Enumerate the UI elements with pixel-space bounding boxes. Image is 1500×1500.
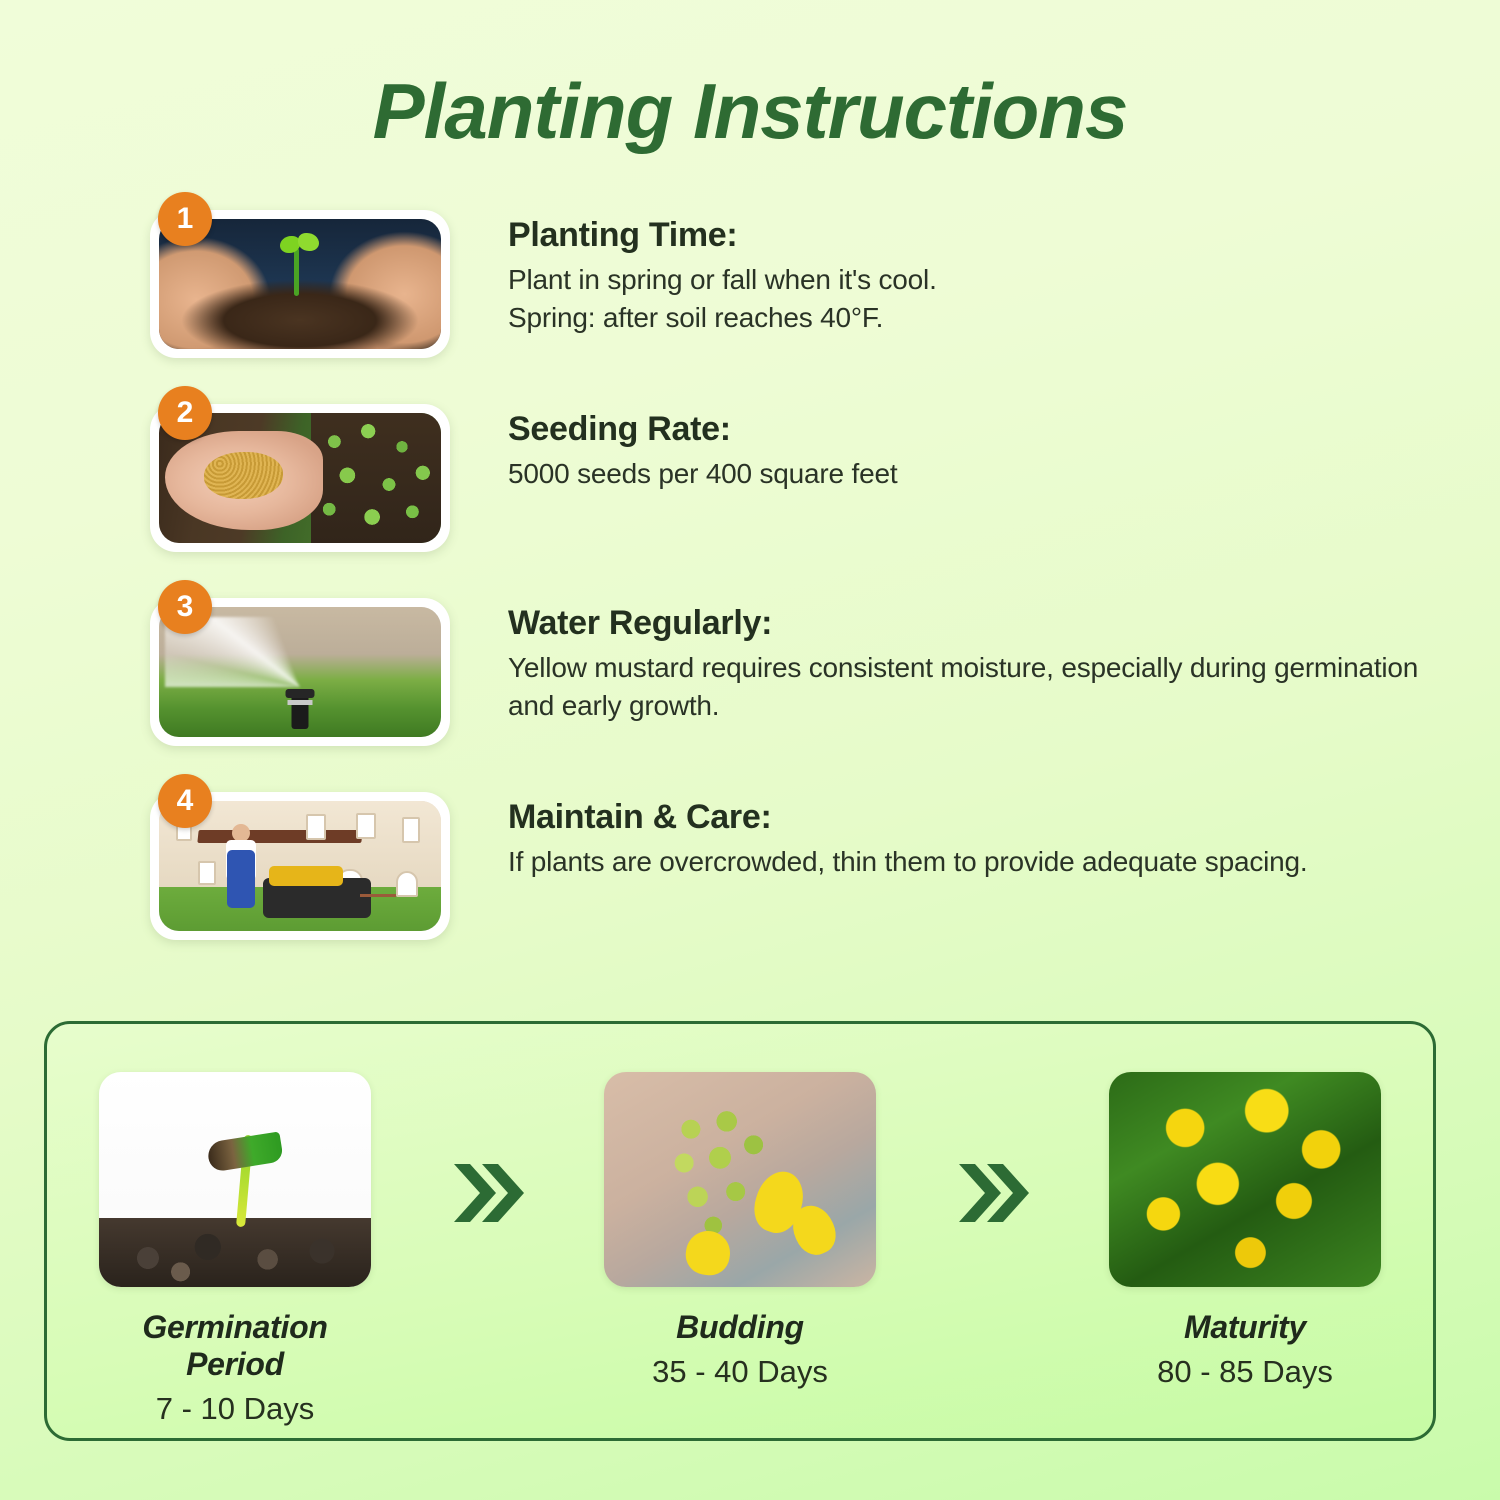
instruction-step: 2 Seeding Rate: 5000 seeds per 400 squar…: [150, 386, 1440, 552]
step-media: 4: [150, 774, 460, 940]
step-heading: Water Regularly:: [508, 604, 1440, 643]
instruction-step: 3 Water Regularly: Yellow mustard requir…: [150, 580, 1440, 746]
step-heading: Planting Time:: [508, 216, 1440, 255]
page-title: Planting Instructions: [0, 72, 1500, 150]
step-number-badge: 3: [158, 580, 212, 634]
stage-name: Budding: [604, 1309, 876, 1346]
stage-duration: 80 - 85 Days: [1109, 1354, 1381, 1390]
instruction-step: 1 Planting Time: Plant in spring or fall…: [150, 192, 1440, 358]
instruction-steps-list: 1 Planting Time: Plant in spring or fall…: [0, 192, 1500, 940]
growth-timeline-panel: Germination Period 7 - 10 Days Budding 3…: [44, 1021, 1436, 1441]
step-text: Seeding Rate: 5000 seeds per 400 square …: [460, 386, 1440, 493]
step-body: Yellow mustard requires consistent moist…: [508, 649, 1428, 724]
step-text: Planting Time: Plant in spring or fall w…: [460, 192, 1440, 336]
growth-stage: Budding 35 - 40 Days: [604, 1072, 876, 1390]
step-heading: Maintain & Care:: [508, 798, 1440, 837]
growth-stage: Maturity 80 - 85 Days: [1109, 1072, 1381, 1390]
step-media: 1: [150, 192, 460, 358]
growth-stage: Germination Period 7 - 10 Days: [99, 1072, 371, 1427]
stage-name: Maturity: [1109, 1309, 1381, 1346]
double-chevron-right-icon: [446, 1072, 530, 1226]
step-heading: Seeding Rate:: [508, 410, 1440, 449]
germination-image: [99, 1072, 371, 1287]
step-text: Maintain & Care: If plants are overcrowd…: [460, 774, 1440, 881]
stage-duration: 35 - 40 Days: [604, 1354, 876, 1390]
step-number-badge: 4: [158, 774, 212, 828]
stage-name: Germination Period: [99, 1309, 371, 1383]
step-body: 5000 seeds per 400 square feet: [508, 455, 1428, 493]
maturity-image: [1109, 1072, 1381, 1287]
page-header: Planting Instructions: [0, 0, 1500, 150]
step-media: 2: [150, 386, 460, 552]
step-body: Plant in spring or fall when it's cool. …: [508, 261, 1428, 336]
step-number-badge: 1: [158, 192, 212, 246]
step-number-badge: 2: [158, 386, 212, 440]
double-chevron-right-icon: [951, 1072, 1035, 1226]
step-media: 3: [150, 580, 460, 746]
step-body: If plants are overcrowded, thin them to …: [508, 843, 1428, 881]
instruction-step: 4 Maintai: [150, 774, 1440, 940]
step-text: Water Regularly: Yellow mustard requires…: [460, 580, 1440, 724]
budding-image: [604, 1072, 876, 1287]
stage-duration: 7 - 10 Days: [99, 1391, 371, 1427]
